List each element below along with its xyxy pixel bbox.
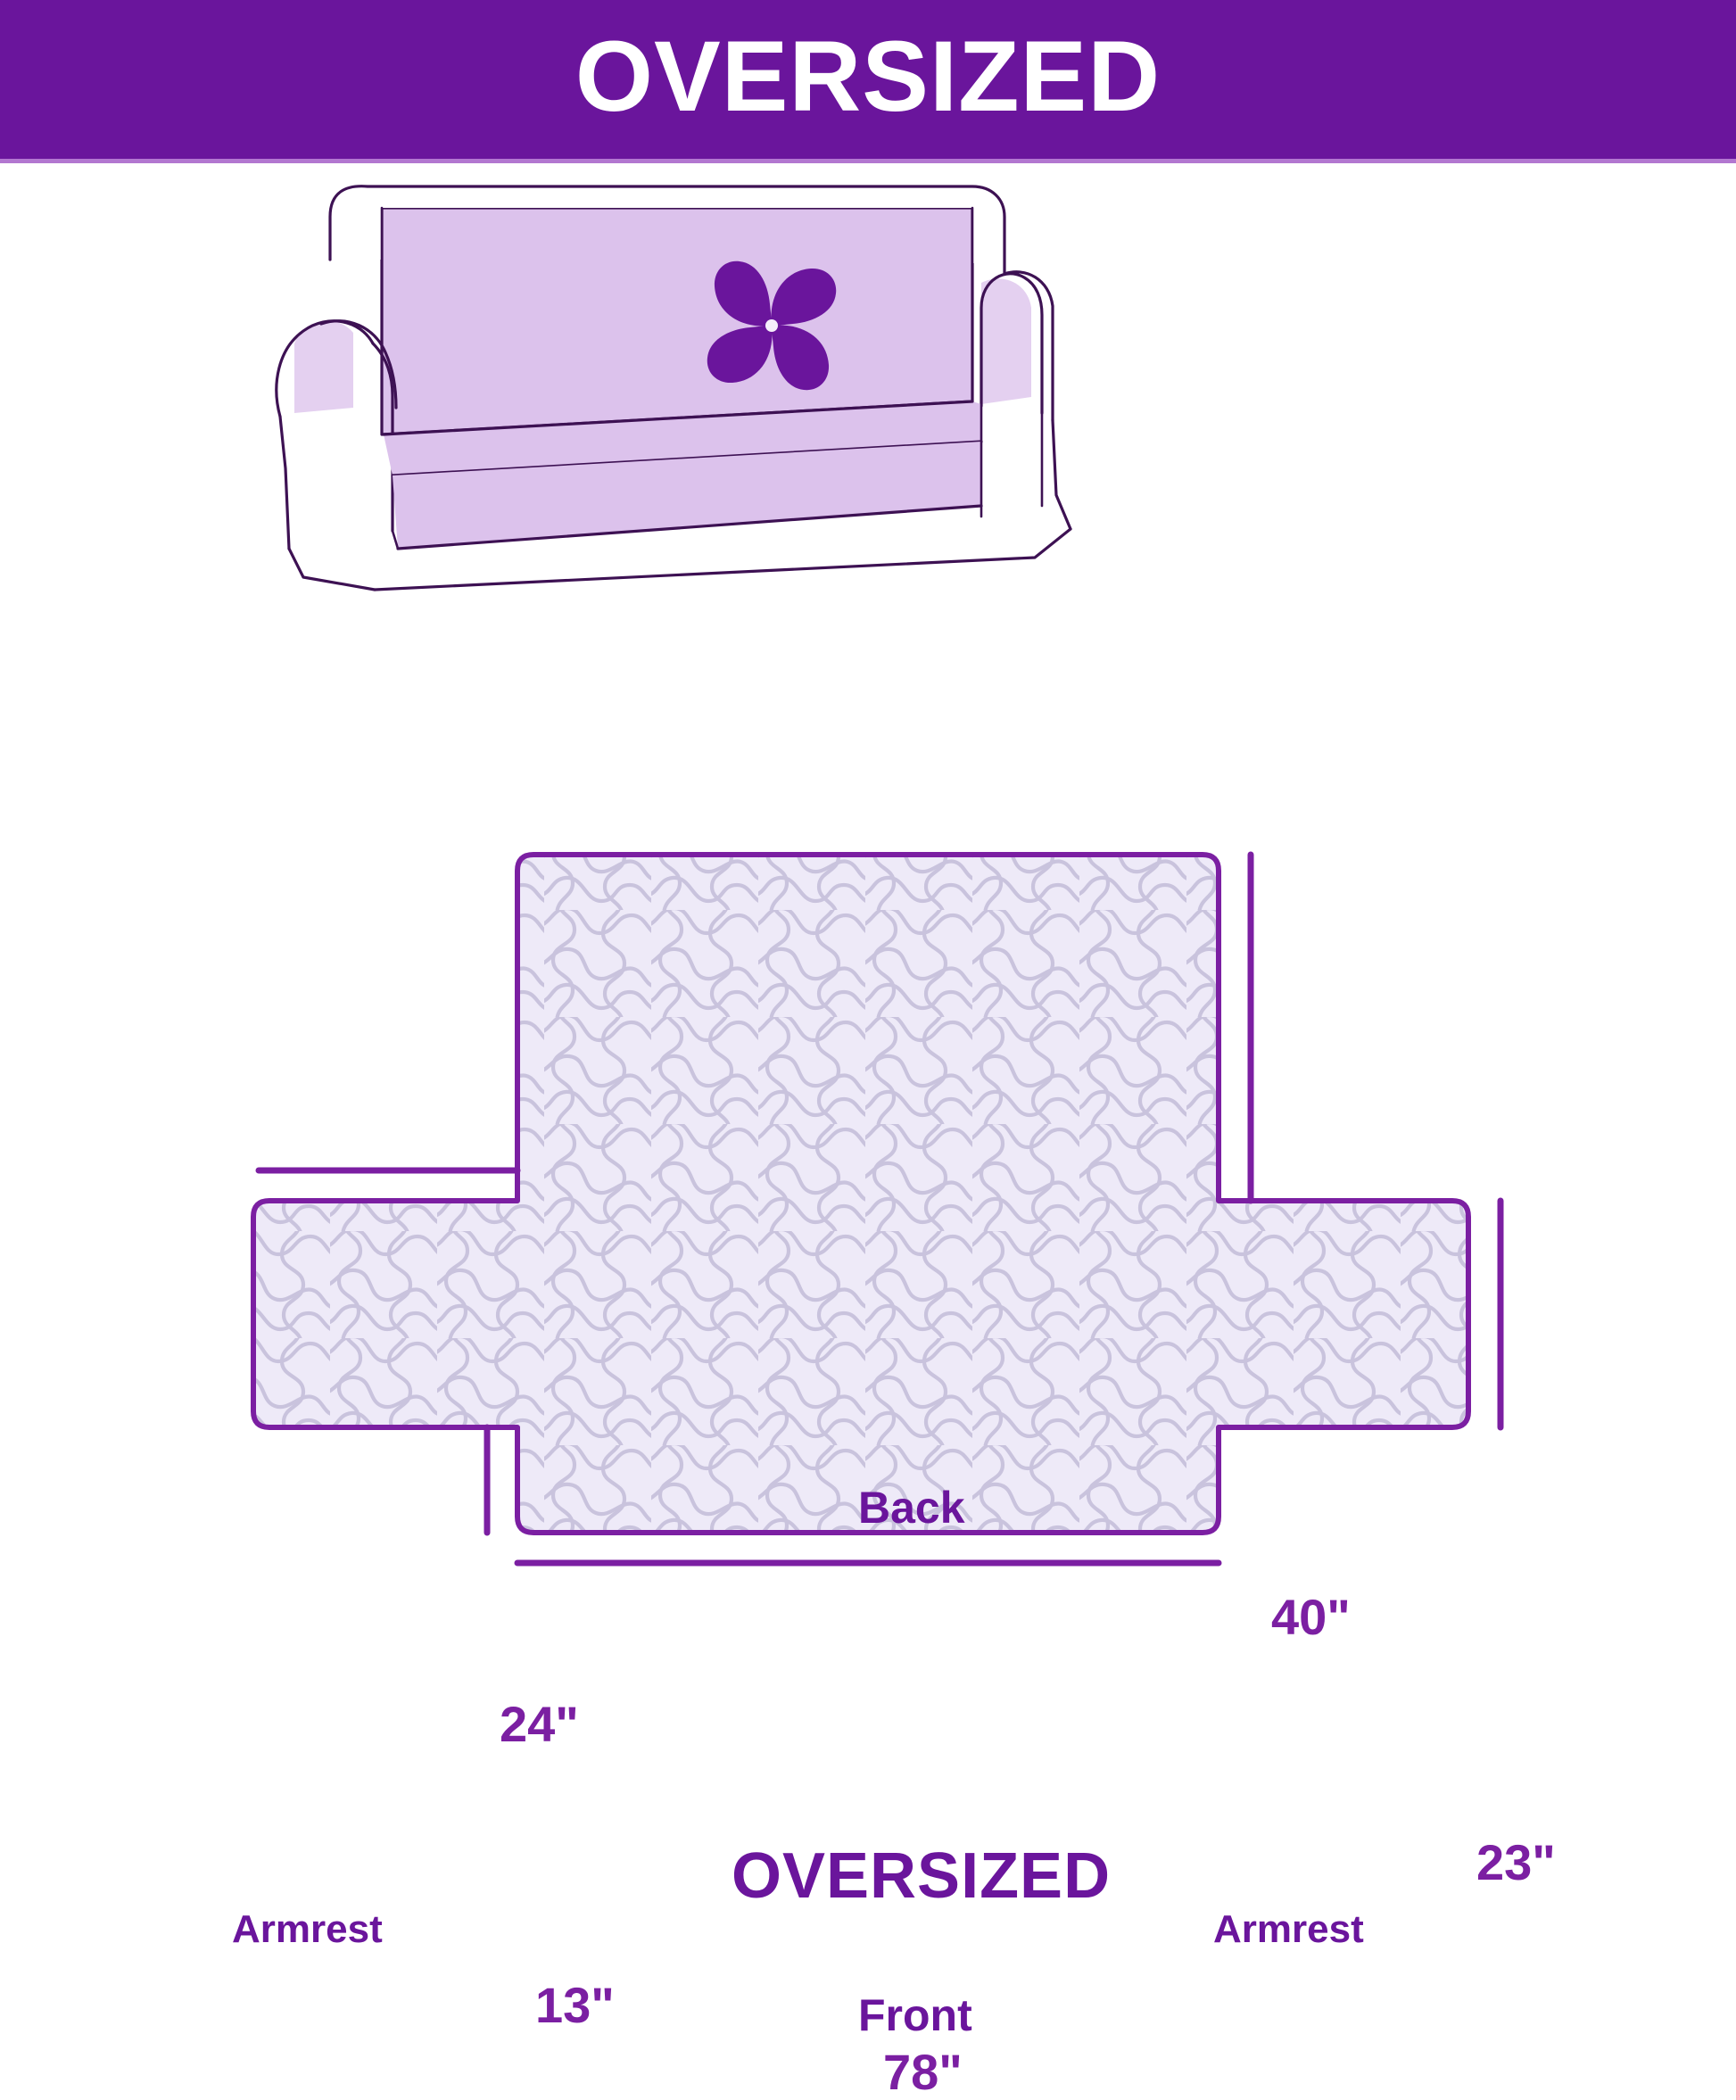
label-armrest-left: Armrest xyxy=(232,1910,383,1949)
dimension-back-offset: 24" xyxy=(500,1699,579,1749)
sofa-illustration: .outln{fill:none;stroke:#3d1153;stroke-w… xyxy=(268,174,1160,620)
label-front: Front xyxy=(858,1993,972,2038)
dimension-front-offset: 13" xyxy=(535,1980,615,2030)
dimension-back-height: 40" xyxy=(1271,1592,1351,1642)
cover-outline xyxy=(253,855,1468,1533)
label-back: Back xyxy=(858,1485,965,1530)
cover-shape-diagram: Back OVERSIZED Front Armrest Armrest 40"… xyxy=(223,803,1517,1606)
header-banner: OVERSIZED xyxy=(0,0,1736,161)
label-center-oversized: OVERSIZED xyxy=(732,1844,1111,1908)
page-title: OVERSIZED xyxy=(575,27,1161,127)
label-armrest-right: Armrest xyxy=(1213,1910,1364,1949)
dimension-front-width: 78" xyxy=(883,2047,963,2097)
header-underline-divider xyxy=(0,159,1736,163)
dimension-armrest-depth: 23" xyxy=(1476,1838,1556,1888)
